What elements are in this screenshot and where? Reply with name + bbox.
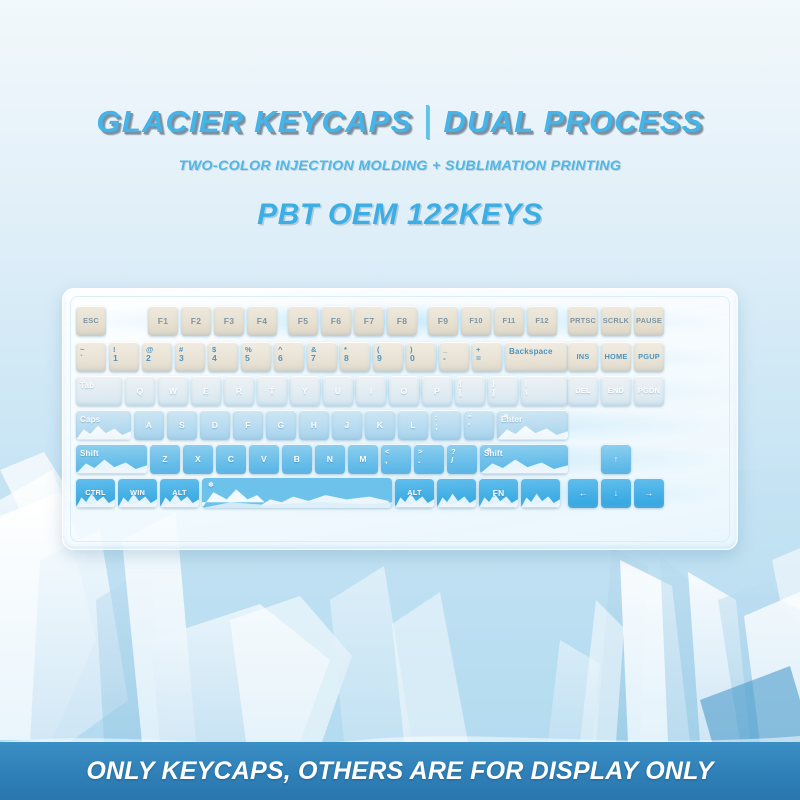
key-win[interactable]: WIN (118, 478, 157, 508)
key-alt[interactable]: ALT (395, 478, 434, 508)
key-caps[interactable]: Caps (76, 410, 131, 440)
key-legend: A (146, 421, 152, 430)
keyboard-row-number-row: ~`!1@2#3$4%5^6&7*8(9)0_-+=BackspaceINSHO… (76, 342, 724, 372)
key-blank[interactable]: >. (414, 444, 444, 474)
key-j[interactable]: J (332, 410, 362, 440)
key-legend: F (245, 421, 250, 430)
snowflake-icon: ❄ (208, 481, 214, 489)
key-9[interactable]: (9 (373, 342, 403, 372)
key-legend: D (212, 421, 218, 430)
key-2[interactable]: @2 (142, 342, 172, 372)
key-blank[interactable]: += (472, 342, 502, 372)
key-p[interactable]: P (422, 376, 452, 406)
key-legend: B (294, 455, 300, 464)
key-l[interactable]: L (398, 410, 428, 440)
key-1[interactable]: !1 (109, 342, 139, 372)
key-legend: FN (493, 489, 505, 498)
key-f4[interactable]: F4 (247, 306, 277, 336)
key-q[interactable]: Q (125, 376, 155, 406)
key-5[interactable]: %5 (241, 342, 271, 372)
key-legend: U (335, 387, 341, 396)
key-legend: INS (577, 353, 590, 360)
key-blank[interactable]: _- (439, 342, 469, 372)
key-blank[interactable]: {[ (455, 376, 485, 406)
key-m[interactable]: M (348, 444, 378, 474)
key-legend-dual: _- (443, 346, 447, 363)
key-legend: DEL (575, 387, 590, 394)
key-legend: F1 (158, 317, 168, 326)
iceberg-art-icon (76, 455, 147, 474)
headline-left: GLACIER KEYCAPS (96, 104, 412, 140)
key-f10[interactable]: F10 (461, 306, 491, 336)
key-legend-dual: ^6 (278, 346, 283, 363)
key-w[interactable]: W (158, 376, 188, 406)
key-legend: F8 (397, 317, 407, 326)
key-legend: Backspace (509, 347, 553, 356)
key-a[interactable]: A (134, 410, 164, 440)
key-7[interactable]: &7 (307, 342, 337, 372)
key-legend: CTRL (85, 489, 106, 496)
key-esc[interactable]: ESC (76, 306, 106, 336)
iceberg-art-icon (76, 421, 131, 440)
key-legend: F5 (298, 317, 308, 326)
key-4[interactable]: $4 (208, 342, 238, 372)
key-t[interactable]: T (257, 376, 287, 406)
key-alt[interactable]: ALT (160, 478, 199, 508)
key-blank[interactable]: ← (568, 478, 598, 508)
key-blank[interactable]: :; (431, 410, 461, 440)
key-blank[interactable]: |\ (521, 376, 568, 406)
key-legend: F7 (364, 317, 374, 326)
key-z[interactable]: Z (150, 444, 180, 474)
key-f5[interactable]: F5 (288, 306, 318, 336)
keyboard-row-home-row: CapsASDFGHJKL:;"'❄Enter (76, 410, 724, 440)
keyboard: ESCF1F2F3F4F5F6F7F8F9F10F11F12PRTSCSCRLK… (62, 288, 738, 550)
key-legend: F4 (257, 317, 267, 326)
key-legend: → (645, 489, 654, 498)
key-legend-dual: *8 (344, 346, 349, 363)
glacier-scene-icon (202, 478, 392, 508)
key-blank[interactable]: "' (464, 410, 494, 440)
key-legend-dual: !1 (113, 346, 118, 363)
key-legend: PGUP (638, 353, 660, 360)
key-legend-dual: |\ (525, 380, 528, 397)
key-ctrl[interactable]: CTRL (76, 478, 115, 508)
key-legend: WIN (130, 489, 145, 496)
key-legend: F11 (503, 317, 516, 324)
key-blank[interactable]: }] (488, 376, 518, 406)
key-8[interactable]: *8 (340, 342, 370, 372)
key-u[interactable]: U (323, 376, 353, 406)
subtitle: TWO-COLOR INJECTION MOLDING + SUBLIMATIO… (0, 158, 800, 174)
key-i[interactable]: I (356, 376, 386, 406)
key-h[interactable]: H (299, 410, 329, 440)
key-legend: Enter (501, 415, 522, 424)
key-scrlk[interactable]: SCRLK (601, 306, 631, 336)
key-pause[interactable]: PAUSE (634, 306, 664, 336)
key-legend: L (410, 421, 415, 430)
key-legend: N (327, 455, 333, 464)
key-legend: M (359, 455, 366, 464)
key-prtsc[interactable]: PRTSC (568, 306, 598, 336)
key-undefined-undefined[interactable]: ❄ (202, 478, 392, 508)
iceberg-art-icon (521, 489, 560, 508)
key-f[interactable]: F (233, 410, 263, 440)
key-legend-dual: }] (492, 380, 495, 397)
key-legend-dual: (9 (377, 346, 382, 363)
key-legend-dual: #3 (179, 346, 184, 363)
key-f7[interactable]: F7 (354, 306, 384, 336)
key-s[interactable]: S (167, 410, 197, 440)
key-blank[interactable]: ↓ (601, 478, 631, 508)
key-del[interactable]: DEL (568, 376, 598, 406)
key-enter[interactable]: ❄Enter (497, 410, 568, 440)
keycap-field: ESCF1F2F3F4F5F6F7F8F9F10F11F12PRTSCSCRLK… (76, 306, 724, 536)
key-legend: K (377, 421, 383, 430)
key-legend: F6 (331, 317, 341, 326)
key-3[interactable]: #3 (175, 342, 205, 372)
disclaimer-banner: ONLY KEYCAPS, OTHERS ARE FOR DISPLAY ONL… (0, 742, 800, 800)
key-legend-dual: )0 (410, 346, 415, 363)
key-legend: Shift (80, 449, 99, 458)
key-legend: PGDN (638, 387, 660, 394)
key-f11[interactable]: F11 (494, 306, 524, 336)
key-legend: ESC (83, 317, 99, 324)
key-blank[interactable]: ~` (76, 342, 106, 372)
key-legend: F9 (438, 317, 448, 326)
key-blank[interactable]: <, (381, 444, 411, 474)
spec-line: PBT OEM 122KEYS (0, 198, 800, 232)
key-legend-dual: %5 (245, 346, 252, 363)
key-legend: F10 (469, 317, 482, 324)
key-f1[interactable]: F1 (148, 306, 178, 336)
key-f9[interactable]: F9 (428, 306, 458, 336)
key-g[interactable]: G (266, 410, 296, 440)
key-legend: C (228, 455, 234, 464)
iceberg-art-icon (497, 421, 568, 440)
key-blank[interactable]: ↑ (601, 444, 631, 474)
key-d[interactable]: D (200, 410, 230, 440)
key-undefined-undefined[interactable] (521, 478, 560, 508)
key-blank[interactable]: → (634, 478, 664, 508)
key-legend: SCRLK (603, 317, 629, 324)
key-tab[interactable]: Tab (76, 376, 122, 406)
key-legend: Caps (80, 415, 100, 424)
key-legend: ALT (172, 489, 186, 496)
key-legend: G (278, 421, 285, 430)
disclaimer-text: ONLY KEYCAPS, OTHERS ARE FOR DISPLAY ONL… (86, 757, 713, 786)
key-blank[interactable]: ?/ (447, 444, 477, 474)
key-c[interactable]: C (216, 444, 246, 474)
key-f8[interactable]: F8 (387, 306, 417, 336)
key-ins[interactable]: INS (568, 342, 598, 372)
key-legend: H (311, 421, 317, 430)
key-v[interactable]: V (249, 444, 279, 474)
key-legend: F3 (224, 317, 234, 326)
key-legend-dual: "' (468, 414, 472, 431)
keyboard-row-qwerty-row: TabQWERTYUIOP{[}]|\DELENDPGDN (76, 376, 724, 406)
headline-right: DUAL PROCESS (443, 104, 703, 140)
key-f3[interactable]: F3 (214, 306, 244, 336)
key-legend-dual: <, (385, 448, 390, 465)
key-home[interactable]: HOME (601, 342, 631, 372)
key-e[interactable]: E (191, 376, 221, 406)
key-legend: HOME (605, 353, 628, 360)
key-legend: Z (162, 455, 167, 464)
key-b[interactable]: B (282, 444, 312, 474)
key-legend: ↓ (614, 489, 619, 498)
key-backspace[interactable]: Backspace (505, 342, 568, 372)
key-shift[interactable]: Shift (76, 444, 147, 474)
key-legend-dual: += (476, 346, 481, 363)
key-legend: PRTSC (570, 317, 596, 324)
headline-divider (426, 105, 429, 139)
key-f12[interactable]: F12 (527, 306, 557, 336)
key-x[interactable]: X (183, 444, 213, 474)
key-f2[interactable]: F2 (181, 306, 211, 336)
key-pgdn[interactable]: PGDN (634, 376, 664, 406)
key-shift[interactable]: ❄Shift (480, 444, 568, 474)
key-legend-dual: @2 (146, 346, 154, 363)
keyboard-row-shift-row: ShiftZXCVBNM<,>.?/❄Shift↑ (76, 444, 724, 474)
key-legend-dual: ?/ (451, 448, 456, 465)
key-legend: F2 (191, 317, 201, 326)
key-legend: J (345, 421, 350, 430)
key-legend: P (434, 387, 440, 396)
headline-row: GLACIER KEYCAPS DUAL PROCESS (0, 104, 800, 140)
key-fn[interactable]: FN (479, 478, 518, 508)
iceberg-art-icon (480, 455, 568, 474)
key-legend: F12 (535, 317, 548, 324)
keyboard-row-function-row: ESCF1F2F3F4F5F6F7F8F9F10F11F12PRTSCSCRLK… (76, 306, 724, 336)
headline-block: GLACIER KEYCAPS DUAL PROCESS TWO-COLOR I… (0, 0, 800, 232)
key-legend: END (608, 387, 624, 394)
key-legend: W (169, 387, 177, 396)
key-legend: Y (302, 387, 308, 396)
key-legend-dual: &7 (311, 346, 317, 363)
keyboard-row-bottom-row: CTRLWINALT❄ALTFN←↓→ (76, 478, 724, 508)
key-legend: Shift (484, 449, 503, 458)
key-f6[interactable]: F6 (321, 306, 351, 336)
key-legend: I (370, 387, 373, 396)
key-legend: ← (579, 489, 588, 498)
iceberg-art-icon (437, 489, 476, 508)
key-legend: T (269, 387, 274, 396)
key-end[interactable]: END (601, 376, 631, 406)
key-legend-dual: :; (435, 414, 438, 431)
key-o[interactable]: O (389, 376, 419, 406)
key-legend: V (261, 455, 267, 464)
key-undefined-undefined[interactable] (437, 478, 476, 508)
key-legend: R (236, 387, 242, 396)
key-legend: ↑ (614, 455, 619, 464)
key-legend: ALT (407, 489, 421, 496)
key-y[interactable]: Y (290, 376, 320, 406)
key-legend-dual: $4 (212, 346, 217, 363)
key-0[interactable]: )0 (406, 342, 436, 372)
key-legend: X (195, 455, 201, 464)
key-legend: S (179, 421, 185, 430)
key-n[interactable]: N (315, 444, 345, 474)
key-pgup[interactable]: PGUP (634, 342, 664, 372)
key-legend: E (203, 387, 209, 396)
key-6[interactable]: ^6 (274, 342, 304, 372)
key-legend-dual: {[ (459, 380, 462, 397)
key-k[interactable]: K (365, 410, 395, 440)
key-legend: O (401, 387, 408, 396)
key-legend: Q (137, 387, 144, 396)
key-legend: Tab (80, 381, 94, 390)
key-legend: PAUSE (636, 317, 662, 324)
key-r[interactable]: R (224, 376, 254, 406)
key-legend-dual: ~` (80, 346, 85, 363)
key-legend-dual: >. (418, 448, 423, 465)
